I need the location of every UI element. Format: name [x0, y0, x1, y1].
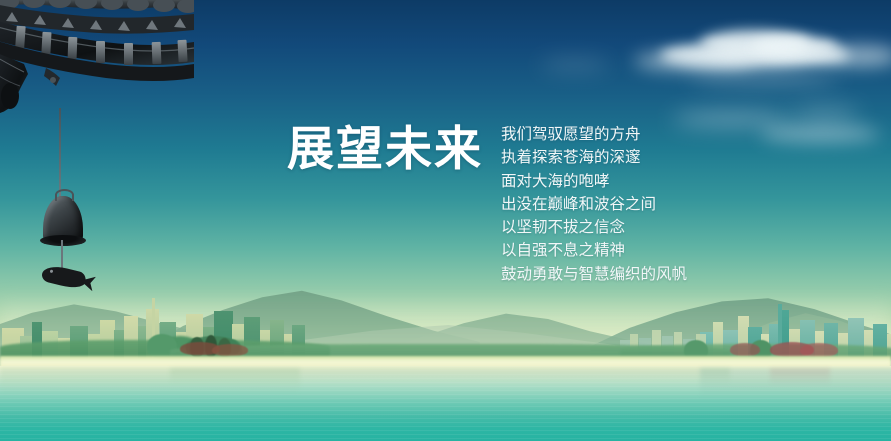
poem-block: 我们驾驭愿望的方舟 执着探索苍海的深邃 面对大海的咆哮 出没在巅峰和波谷之间 以…: [501, 123, 687, 286]
poem-line: 出没在巅峰和波谷之间: [501, 193, 687, 216]
poem-line: 以自强不息之精神: [501, 239, 687, 262]
poem-line: 我们驾驭愿望的方舟: [501, 123, 687, 146]
poem-line: 鼓动勇敢与智慧编织的风帆: [501, 263, 687, 286]
page-title: 展望未来: [287, 124, 483, 176]
poem-line: 执着探索苍海的深邃: [501, 146, 687, 169]
poem-line: 面对大海的咆哮: [501, 170, 687, 193]
wind-bell-group: [40, 108, 100, 293]
temple-eave-icon: [0, 0, 194, 120]
fish-clapper-icon: [40, 263, 87, 291]
bell-icon: [43, 196, 83, 242]
poem-line: 以坚韧不拔之信念: [501, 216, 687, 239]
bell-cord: [59, 108, 61, 200]
poster-canvas: 展望未来 我们驾驭愿望的方舟 执着探索苍海的深邃 面对大海的咆哮 出没在巅峰和波…: [0, 0, 891, 441]
